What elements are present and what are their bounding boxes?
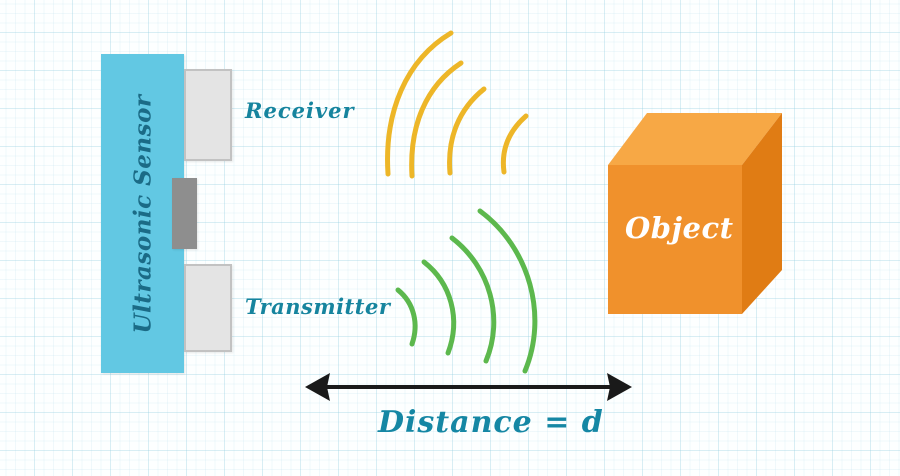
transmitter-wave-arcs (398, 211, 535, 371)
transmitter-arc-3 (452, 238, 494, 361)
diagram-overlay (0, 0, 900, 476)
receiver-arc-1 (388, 33, 451, 174)
receiver-arc-3 (450, 89, 484, 173)
receiver-arc-2 (412, 63, 461, 176)
distance-arrow-head-left (305, 373, 330, 401)
receiver-wave-arcs (388, 33, 526, 176)
receiver-arc-4 (503, 116, 526, 172)
transmitter-arc-2 (424, 262, 454, 353)
distance-arrow (305, 373, 632, 401)
ultrasonic-sensor-diagram: Ultrasonic Sensor Receiver Transmitter D… (0, 0, 900, 476)
object-label: Object (625, 211, 734, 245)
transmitter-arc-1 (398, 290, 415, 344)
distance-arrow-head-right (607, 373, 632, 401)
